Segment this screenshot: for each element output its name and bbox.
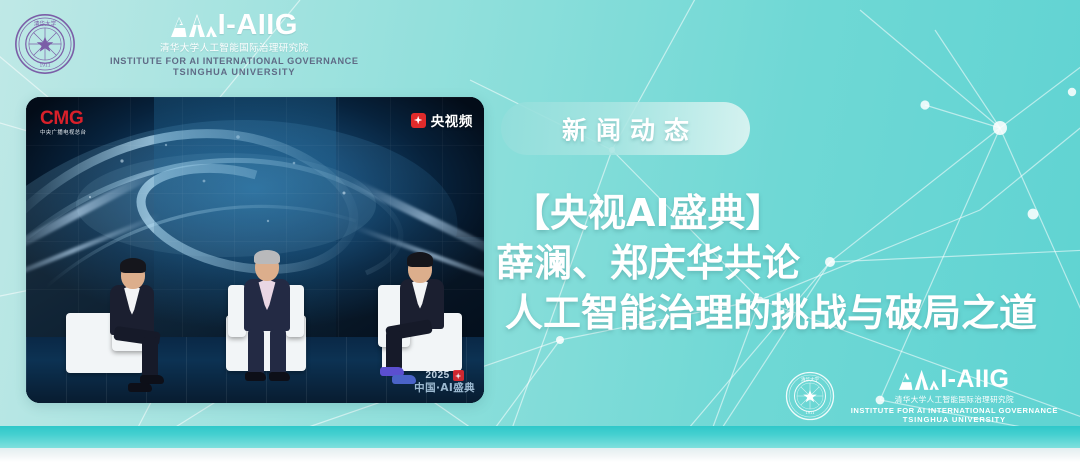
leg-center	[248, 329, 264, 375]
brand-english-line-2: TSINGHUA UNIVERSITY	[173, 68, 295, 77]
bottom-fade-strip	[0, 448, 1080, 462]
bottom-accent-bar	[0, 426, 1080, 448]
footer-brand-english-line-1: INSTITUTE FOR AI INTERNATIONAL GOVERNANC…	[851, 407, 1058, 415]
shoe-right-2	[392, 375, 416, 384]
svg-text:1911: 1911	[805, 411, 814, 415]
leg-right-2	[386, 331, 402, 371]
shoe-left-2	[128, 383, 152, 392]
page-title: 【央视AI盛典】 薛澜、郑庆华共论 人工智能治理的挑战与破局之道	[512, 188, 1072, 338]
headline-line-2: 薛澜、郑庆华共论	[496, 238, 1072, 288]
headline-line-3: 人工智能治理的挑战与破局之道	[505, 288, 1072, 338]
hair-center	[254, 250, 280, 264]
i-aiig-mountain-mark-icon	[171, 12, 217, 38]
yangshipin-label: 央视频	[431, 110, 473, 130]
tsinghua-seal-icon: 清华大学 1911	[785, 371, 835, 421]
svg-text:清华大学: 清华大学	[801, 376, 819, 383]
tsinghua-seal-icon: 清华大学 1911	[14, 13, 76, 75]
news-category-badge: 新闻动态	[501, 102, 750, 155]
footer-brand-chinese-name: 清华大学人工智能国际治理研究院	[895, 396, 1014, 404]
svg-text:清华大学: 清华大学	[34, 19, 57, 27]
leg-center-2	[270, 329, 286, 375]
cctv-star-badge-icon	[453, 370, 464, 381]
brand-lockup: I-AIIG 清华大学人工智能国际治理研究院 INSTITUTE FOR AI …	[110, 11, 359, 78]
event-name: 中国·AI盛典	[414, 383, 475, 394]
hair-right	[407, 252, 433, 267]
yangshipin-watermark: 央视频	[411, 110, 473, 130]
guest-center	[214, 245, 324, 395]
event-year: 2025	[425, 371, 449, 382]
brand-chinese-name: 清华大学人工智能国际治理研究院	[160, 44, 309, 54]
yangshipin-logo-icon	[411, 113, 426, 128]
banner-header: 清华大学 1911 I-AIIG 清华大学人工智能国际治	[0, 0, 1080, 88]
footer-brand-english-line-2: TSINGHUA UNIVERSITY	[903, 416, 1006, 424]
event-logo: 2025 中国·AI盛典	[414, 370, 475, 394]
video-thumbnail[interactable]: CMG 中央广播电视总台 央视频 2025 中国·AI盛典	[26, 97, 484, 403]
leg-left-2	[142, 337, 158, 379]
headline-line-1: 【央视AI盛典】	[512, 188, 1072, 238]
guest-left	[66, 255, 181, 395]
brand-english-line-1: INSTITUTE FOR AI INTERNATIONAL GOVERNANC…	[110, 57, 359, 66]
shoe-center-2	[269, 372, 290, 381]
cmg-chinese-name: 中央广播电视总台	[40, 131, 86, 136]
footer-brand-lockup: 清华大学 1911 I-AIIG 清华大学人工智能国际治理研究院 INSTITU…	[785, 367, 1058, 424]
footer-brand-text: I-AIIG 清华大学人工智能国际治理研究院 INSTITUTE FOR AI …	[851, 367, 1058, 424]
cmg-wordmark: CMG	[40, 109, 86, 128]
cmg-logo: CMG 中央广播电视总台	[40, 109, 86, 136]
event-logo-top-row: 2025	[414, 370, 475, 381]
shoe-center	[245, 372, 266, 381]
footer-brand-word: I-AIIG	[940, 367, 1009, 392]
hair-left	[120, 258, 146, 273]
news-category-label: 新闻动态	[553, 111, 698, 147]
footer-brand-wordmark: I-AIIG	[899, 367, 1009, 392]
brand-wordmark: I-AIIG	[171, 11, 298, 40]
i-aiig-mountain-mark-icon	[899, 368, 939, 391]
svg-text:1911: 1911	[39, 62, 50, 68]
brand-word: I-AIIG	[218, 11, 298, 40]
news-banner: 清华大学 1911 I-AIIG 清华大学人工智能国际治	[0, 0, 1080, 462]
